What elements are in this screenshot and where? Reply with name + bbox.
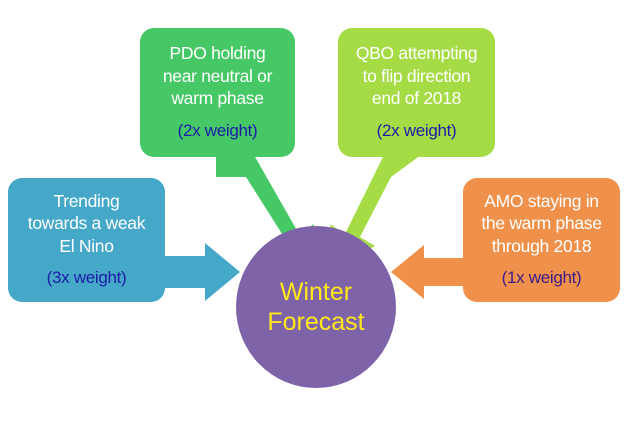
node-weight-elnino: (3x weight) xyxy=(47,268,127,288)
node-title-elnino: Trending towards a weak El Nino xyxy=(28,190,145,257)
node-title-amo: AMO staying in the warm phase through 20… xyxy=(481,190,601,257)
node-box-amo[interactable]: AMO staying in the warm phase through 20… xyxy=(463,178,620,302)
node-weight-qbo: (2x weight) xyxy=(377,121,457,141)
node-box-qbo[interactable]: QBO attempting to flip direction end of … xyxy=(338,28,495,157)
arrow-amo xyxy=(391,245,463,299)
node-weight-pdo: (2x weight) xyxy=(178,121,258,141)
node-title-qbo: QBO attempting to flip direction end of … xyxy=(356,42,477,109)
node-title-pdo: PDO holding near neutral or warm phase xyxy=(163,42,272,109)
center-node-winter-forecast[interactable]: Winter Forecast xyxy=(236,226,396,388)
arrow-elnino xyxy=(165,243,240,301)
node-box-elnino[interactable]: Trending towards a weak El Nino (3x weig… xyxy=(8,178,165,302)
node-weight-amo: (1x weight) xyxy=(502,268,582,288)
node-box-pdo[interactable]: PDO holding near neutral or warm phase (… xyxy=(140,28,295,157)
diagram-canvas: PDO holding near neutral or warm phase (… xyxy=(0,0,639,421)
center-node-label: Winter Forecast xyxy=(267,277,364,338)
